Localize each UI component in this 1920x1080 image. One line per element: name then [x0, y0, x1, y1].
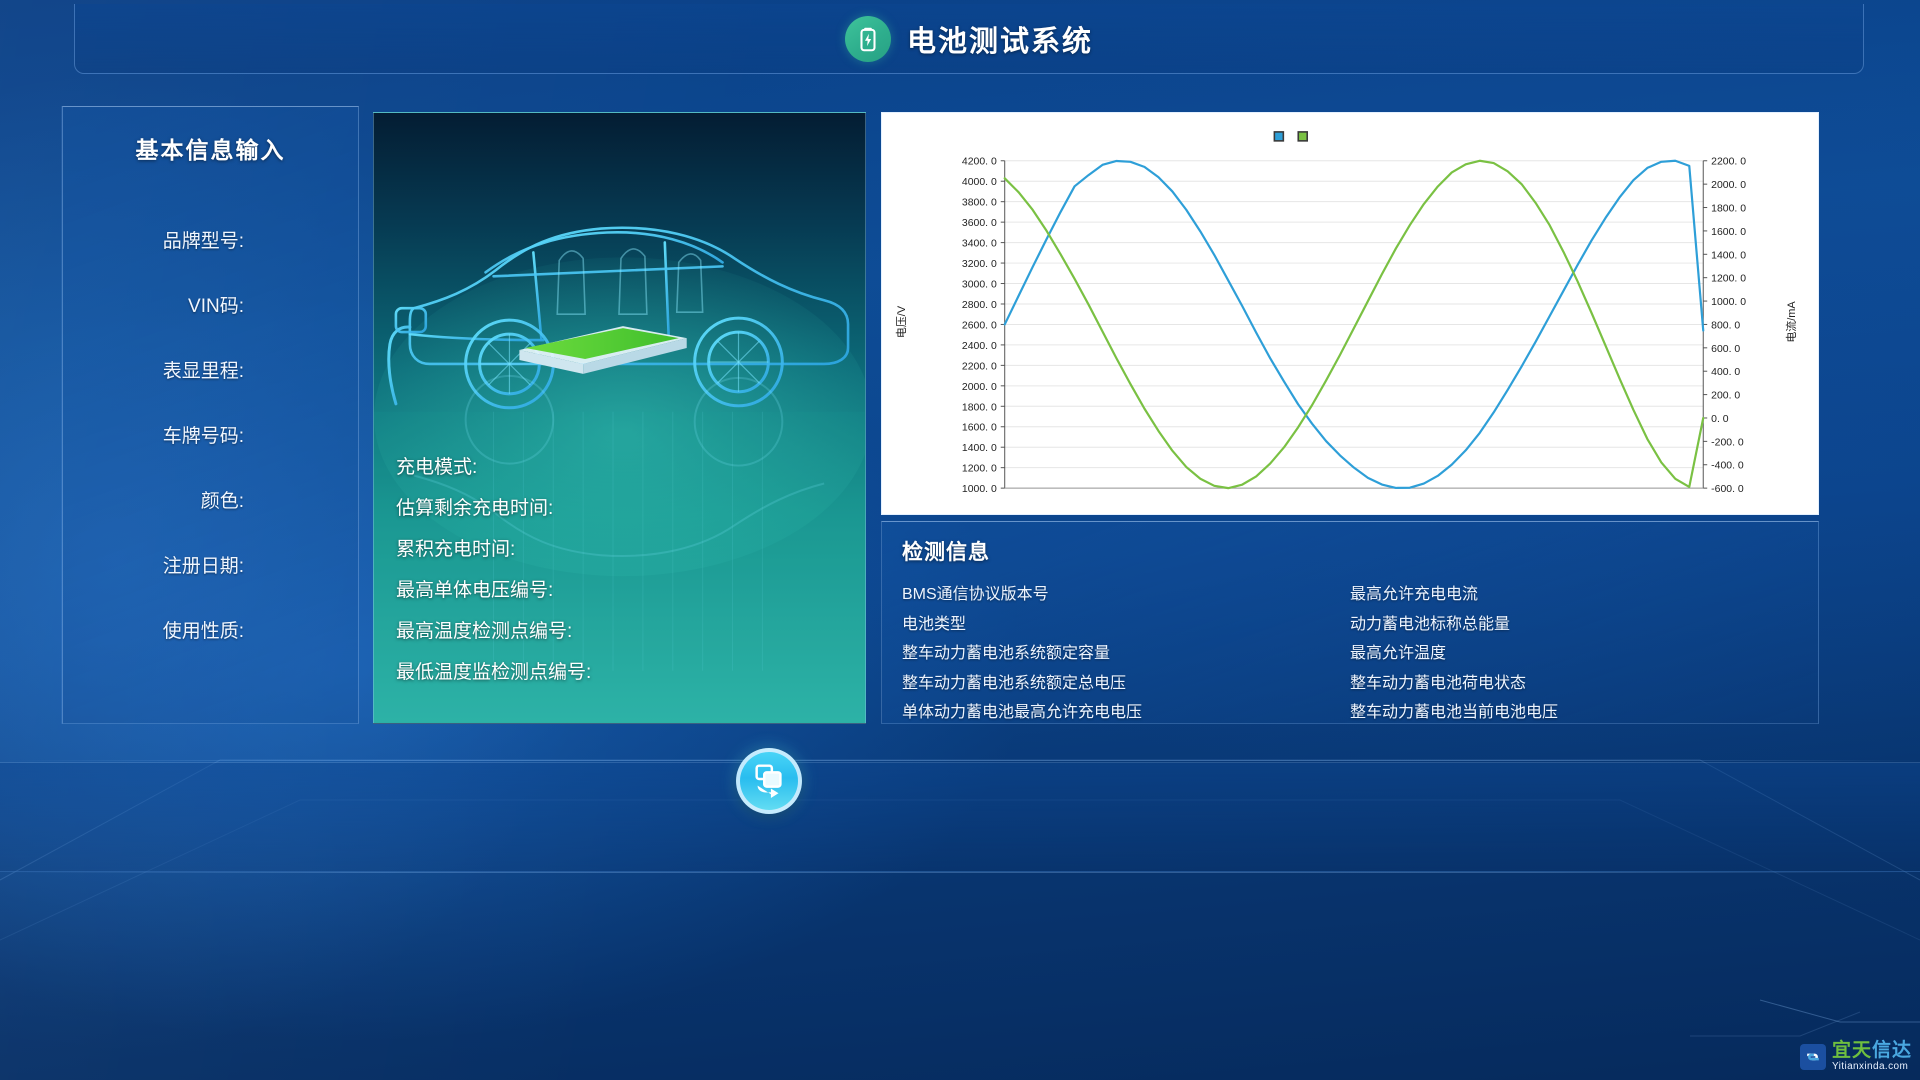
- svg-text:0. 0: 0. 0: [1711, 414, 1729, 425]
- svg-text:-200. 0: -200. 0: [1711, 437, 1744, 448]
- svg-text:2000. 0: 2000. 0: [962, 382, 997, 393]
- charging-label-min-temp-point-id: 最低温度监检测点编号:: [396, 657, 591, 684]
- info-item-current-battery-voltage[interactable]: 整车动力蓄电池当前电池电压: [1350, 698, 1798, 728]
- svg-text:2200. 0: 2200. 0: [1711, 157, 1746, 168]
- svg-text:800. 0: 800. 0: [1711, 320, 1740, 331]
- svg-text:4000. 0: 4000. 0: [962, 177, 997, 188]
- svg-text:3200. 0: 3200. 0: [962, 259, 997, 270]
- svg-text:3000. 0: 3000. 0: [962, 280, 997, 291]
- basic-info-field-list: 品牌型号: VIN码: 表显里程: 车牌号码: 颜色: 注册日期: 使用性质:: [63, 207, 358, 662]
- info-item-bms-protocol-version[interactable]: BMS通信协议版本号: [902, 580, 1350, 610]
- svg-text:3800. 0: 3800. 0: [962, 198, 997, 209]
- field-label-plate-number: 车牌号码:: [163, 421, 244, 448]
- voltage-current-chart-panel[interactable]: 4200. 04000. 03800. 03600. 03400. 03200.…: [881, 112, 1819, 515]
- svg-text:-600. 0: -600. 0: [1711, 484, 1744, 495]
- field-row-vin[interactable]: VIN码:: [63, 272, 358, 337]
- charging-row-max-cell-voltage-id[interactable]: 最高单体电压编号:: [396, 568, 855, 609]
- field-row-register-date[interactable]: 注册日期:: [63, 532, 358, 597]
- info-item-max-allowed-temperature[interactable]: 最高允许温度: [1350, 639, 1798, 669]
- battery-icon: [845, 16, 891, 62]
- svg-text:2200. 0: 2200. 0: [962, 361, 997, 372]
- vehicle-charging-panel: 充电模式: 估算剩余充电时间: 累积充电时间: 最高单体电压编号: 最高温度检测…: [373, 112, 866, 724]
- svg-text:1800. 0: 1800. 0: [962, 402, 997, 413]
- chart-y2-axis-title: 电流/mA: [1784, 301, 1798, 343]
- charging-label-mode: 充电模式:: [396, 452, 477, 479]
- field-row-plate-number[interactable]: 车牌号码:: [63, 402, 358, 467]
- charging-label-total-time: 累积充电时间:: [396, 534, 515, 561]
- charging-row-mode[interactable]: 充电模式:: [396, 445, 855, 486]
- watermark-url: Yitianxinda.com: [1832, 1062, 1912, 1072]
- svg-text:1000. 0: 1000. 0: [962, 484, 997, 495]
- svg-text:1000. 0: 1000. 0: [1711, 297, 1746, 308]
- charging-row-min-temp-point-id[interactable]: 最低温度监检测点编号:: [396, 650, 855, 691]
- svg-text:2400. 0: 2400. 0: [962, 341, 997, 352]
- switch-view-icon: [750, 760, 788, 803]
- switch-view-button[interactable]: [736, 748, 802, 814]
- field-label-color: 颜色:: [201, 486, 244, 513]
- svg-text:200. 0: 200. 0: [1711, 391, 1740, 402]
- info-item-nominal-total-energy[interactable]: 动力蓄电池标称总能量: [1350, 610, 1798, 640]
- charging-info-list: 充电模式: 估算剩余充电时间: 累积充电时间: 最高单体电压编号: 最高温度检测…: [396, 445, 855, 691]
- svg-text:1800. 0: 1800. 0: [1711, 204, 1746, 215]
- watermark-cn-blue: 信达: [1872, 1040, 1912, 1061]
- svg-text:1600. 0: 1600. 0: [1711, 227, 1746, 238]
- svg-text:3600. 0: 3600. 0: [962, 218, 997, 229]
- field-row-color[interactable]: 颜色:: [63, 467, 358, 532]
- charging-row-max-temp-point-id[interactable]: 最高温度检测点编号:: [396, 609, 855, 650]
- svg-text:-400. 0: -400. 0: [1711, 461, 1744, 472]
- basic-info-panel: 基本信息输入 品牌型号: VIN码: 表显里程: 车牌号码: 颜色: 注册日期:…: [62, 106, 359, 724]
- svg-text:2600. 0: 2600. 0: [962, 320, 997, 331]
- svg-text:3400. 0: 3400. 0: [962, 239, 997, 250]
- field-label-brand-model: 品牌型号:: [163, 226, 244, 253]
- watermark: 宜天信达 Yitianxinda.com: [1800, 1041, 1912, 1072]
- info-item-rated-total-voltage[interactable]: 整车动力蓄电池系统额定总电压: [902, 669, 1350, 699]
- field-label-usage-type: 使用性质:: [163, 616, 244, 643]
- footer-band: [0, 762, 1920, 872]
- voltage-current-chart[interactable]: 4200. 04000. 03800. 03600. 03400. 03200.…: [882, 113, 1818, 514]
- detection-info-title: 检测信息: [902, 536, 1798, 566]
- svg-text:1400. 0: 1400. 0: [962, 443, 997, 454]
- app-header: 电池测试系统: [74, 4, 1864, 74]
- info-item-rated-capacity[interactable]: 整车动力蓄电池系统额定容量: [902, 639, 1350, 669]
- background-divider-bottom: [0, 872, 1920, 873]
- charging-label-max-cell-voltage-id: 最高单体电压编号:: [396, 575, 553, 602]
- watermark-cn-green: 宜天: [1832, 1040, 1872, 1061]
- info-item-max-cell-charge-voltage[interactable]: 单体动力蓄电池最高允许充电电压: [902, 698, 1350, 728]
- charging-label-max-temp-point-id: 最高温度检测点编号:: [396, 616, 572, 643]
- svg-text:600. 0: 600. 0: [1711, 344, 1740, 355]
- detection-info-left-column: BMS通信协议版本号 电池类型 整车动力蓄电池系统额定容量 整车动力蓄电池系统额…: [902, 580, 1350, 728]
- field-row-mileage[interactable]: 表显里程:: [63, 337, 358, 402]
- charging-row-total-time[interactable]: 累积充电时间:: [396, 527, 855, 568]
- info-item-state-of-charge[interactable]: 整车动力蓄电池荷电状态: [1350, 669, 1798, 699]
- svg-text:2800. 0: 2800. 0: [962, 300, 997, 311]
- svg-text:1200. 0: 1200. 0: [1711, 274, 1746, 285]
- field-label-mileage: 表显里程:: [163, 356, 244, 383]
- svg-text:1600. 0: 1600. 0: [962, 423, 997, 434]
- svg-text:2000. 0: 2000. 0: [1711, 180, 1746, 191]
- svg-text:400. 0: 400. 0: [1711, 367, 1740, 378]
- page-title: 电池测试系统: [907, 18, 1093, 60]
- field-label-vin: VIN码:: [188, 291, 244, 318]
- svg-text:1200. 0: 1200. 0: [962, 464, 997, 475]
- field-label-register-date: 注册日期:: [163, 551, 244, 578]
- svg-text:1400. 0: 1400. 0: [1711, 250, 1746, 261]
- info-item-battery-type[interactable]: 电池类型: [902, 610, 1350, 640]
- detection-info-right-column: 最高允许充电电流 动力蓄电池标称总能量 最高允许温度 整车动力蓄电池荷电状态 整…: [1350, 580, 1798, 728]
- field-row-brand-model[interactable]: 品牌型号:: [63, 207, 358, 272]
- detection-info-panel: 检测信息 BMS通信协议版本号 电池类型 整车动力蓄电池系统额定容量 整车动力蓄…: [881, 521, 1819, 724]
- basic-info-title: 基本信息输入: [63, 131, 358, 165]
- yitianxinda-logo: [1800, 1044, 1826, 1070]
- background-divider-top: [0, 760, 1920, 761]
- svg-text:4200. 0: 4200. 0: [962, 157, 997, 168]
- info-item-max-charge-current[interactable]: 最高允许充电电流: [1350, 580, 1798, 610]
- charging-label-remaining-time: 估算剩余充电时间:: [396, 493, 553, 520]
- field-row-usage-type[interactable]: 使用性质:: [63, 597, 358, 662]
- chart-y-axis-title: 电压/V: [895, 305, 908, 338]
- charging-row-remaining-time[interactable]: 估算剩余充电时间:: [396, 486, 855, 527]
